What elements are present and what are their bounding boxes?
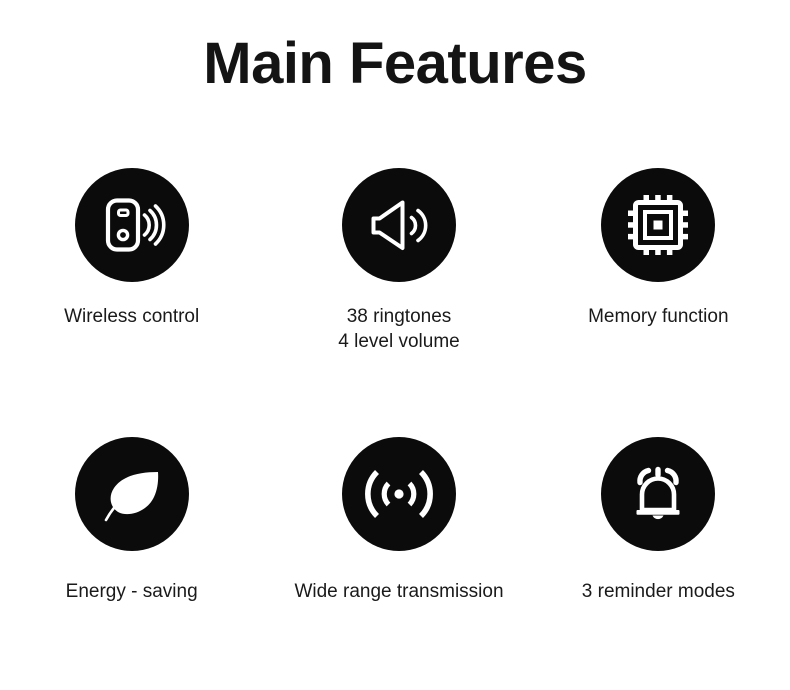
wireless-remote-icon xyxy=(95,188,169,262)
leaf-icon xyxy=(95,457,169,531)
feature-caption: Energy - saving xyxy=(66,579,198,604)
feature-item-reminder-modes: 3 reminder modes xyxy=(527,420,790,690)
feature-infographic: Main Features xyxy=(0,0,790,689)
feature-caption-line1: Wide range transmission xyxy=(294,581,503,602)
icon-badge xyxy=(75,437,189,551)
icon-badge xyxy=(601,437,715,551)
feature-caption: 38 ringtones 4 level volume xyxy=(338,304,459,354)
icon-badge xyxy=(75,168,189,282)
page-title: Main Features xyxy=(0,34,790,95)
feature-caption: Wide range transmission xyxy=(294,579,503,604)
features-grid: Wireless control 38 ringtones 4 lev xyxy=(0,150,790,690)
feature-caption: Memory function xyxy=(588,304,728,329)
alarm-bell-icon xyxy=(620,456,696,532)
icon-badge xyxy=(342,437,456,551)
feature-caption: 3 reminder modes xyxy=(582,579,735,604)
feature-item-wide-range-transmission: Wide range transmission xyxy=(263,420,526,690)
icon-badge xyxy=(342,168,456,282)
icon-badge xyxy=(601,168,715,282)
feature-caption-line1: Energy - saving xyxy=(66,581,198,602)
speaker-volume-icon xyxy=(362,188,436,262)
feature-item-memory-function: Memory function xyxy=(527,150,790,420)
memory-chip-icon xyxy=(621,188,695,262)
feature-caption-line1: Wireless control xyxy=(64,306,199,327)
feature-item-ringtones: 38 ringtones 4 level volume xyxy=(263,150,526,420)
feature-item-energy-saving: Energy - saving xyxy=(0,420,263,690)
feature-item-wireless-control: Wireless control xyxy=(0,150,263,420)
feature-caption-line1: Memory function xyxy=(588,306,728,327)
feature-caption-line1: 38 ringtones xyxy=(347,306,452,327)
feature-caption-line2: 4 level volume xyxy=(338,329,459,354)
feature-caption: Wireless control xyxy=(64,304,199,329)
feature-caption-line1: 3 reminder modes xyxy=(582,581,735,602)
broadcast-signal-icon xyxy=(359,454,439,534)
